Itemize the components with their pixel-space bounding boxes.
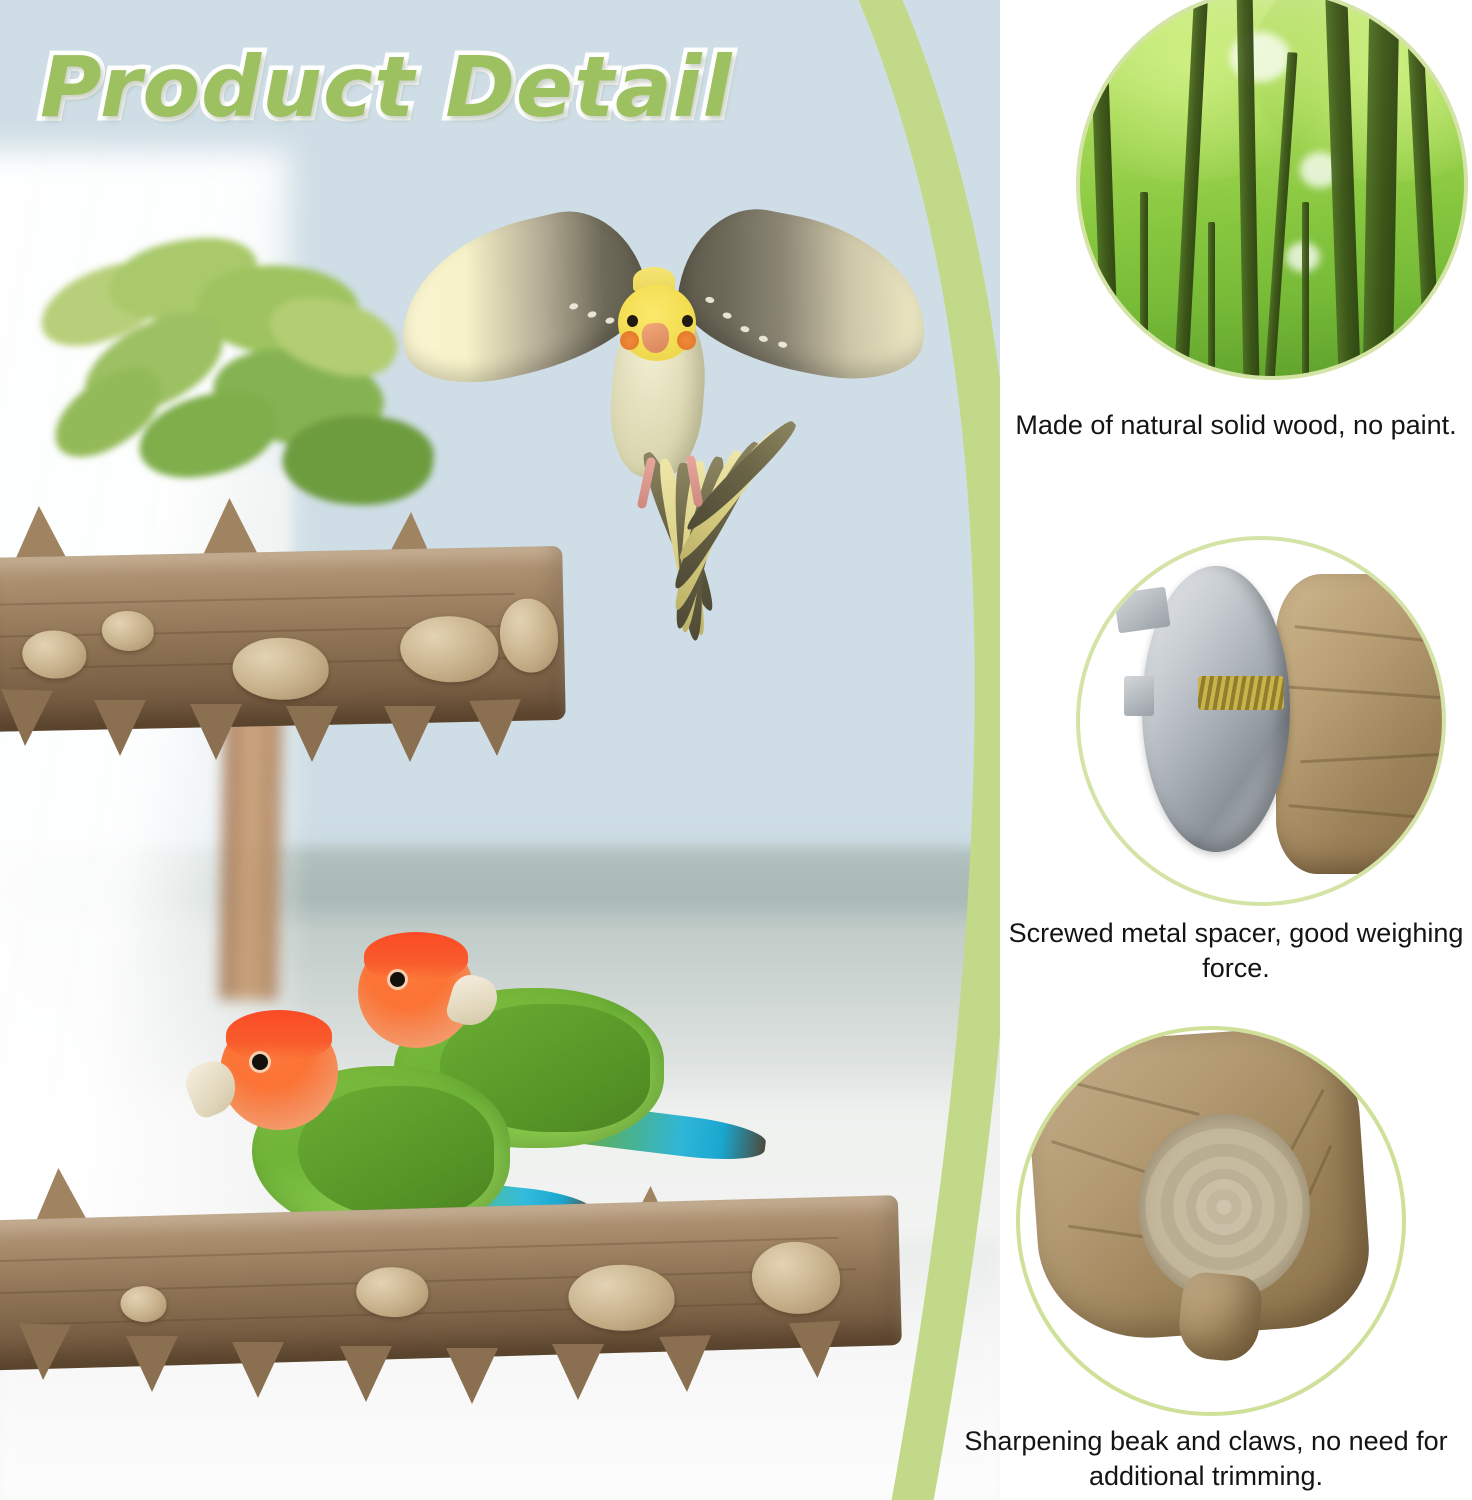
cockatiel-eye	[682, 315, 693, 327]
wood-branch	[1276, 574, 1446, 874]
spacer-screw-thread	[1198, 676, 1284, 710]
forest-photo	[1076, 0, 1468, 380]
lovebird-eye	[252, 1054, 268, 1070]
wood-cut-end-photo	[1016, 1026, 1406, 1416]
page-title: Product Detail	[40, 38, 870, 148]
lovebird-forehead	[364, 932, 468, 980]
spacer-hex-nut	[1113, 587, 1170, 634]
feature-caption: Sharpening beak and claws, no need for a…	[940, 1424, 1472, 1494]
page-title-text: Product Detail	[40, 38, 870, 136]
features-panel: Made of natural solid wood, no paint. Sc…	[1000, 0, 1472, 1500]
cockatiel-cheek-patch	[677, 331, 696, 350]
spacer-bolt-head	[1124, 676, 1154, 716]
cockatiel-cheek-patch	[620, 331, 639, 350]
lovebird-wing	[298, 1086, 494, 1218]
wood-growth-rings	[1138, 1114, 1310, 1300]
lovebird-eye	[390, 972, 405, 987]
potted-plant-foliage	[18, 230, 438, 540]
product-detail-page: Product Detail	[0, 0, 1472, 1500]
lovebird-forehead	[226, 1010, 332, 1060]
cockatiel-right-wing	[668, 197, 942, 394]
left-photo-panel: Product Detail	[0, 0, 1000, 1500]
feature-caption: Made of natural solid wood, no paint.	[1000, 408, 1472, 443]
feature-caption: Screwed metal spacer, good weighing forc…	[1000, 916, 1472, 986]
metal-spacer-photo	[1076, 536, 1446, 906]
cockatiel-eye	[627, 315, 638, 327]
wood-log-spike	[1176, 1270, 1265, 1364]
